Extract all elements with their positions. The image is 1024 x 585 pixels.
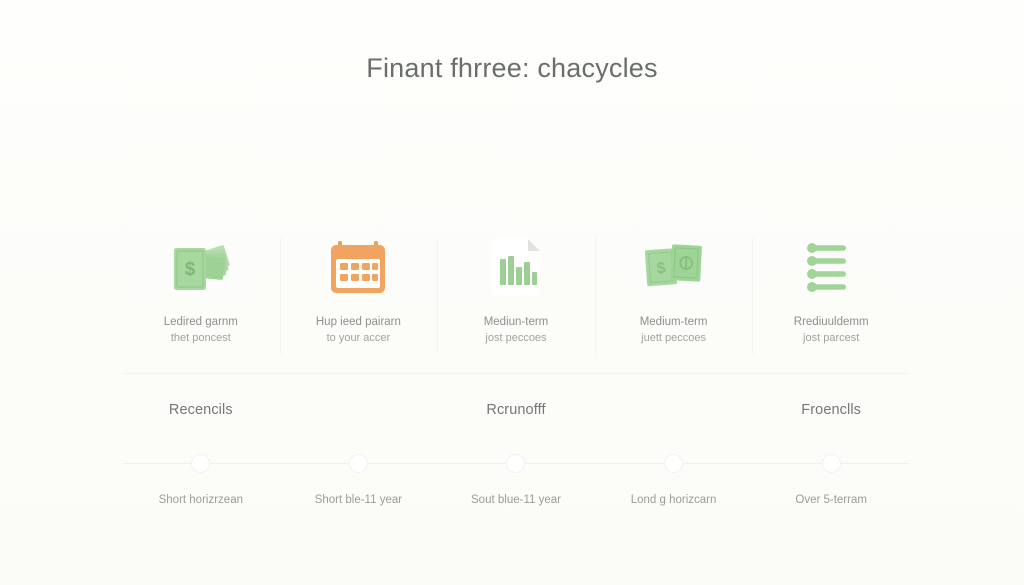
timeline-label: Sout blue-11 year [471,494,561,506]
feature-item-4[interactable]: $ Medium-term juett peccoes [595,232,753,372]
section-label-cell-2 [280,390,438,430]
checklist-icon [793,236,869,298]
feature-caption-line1: Rrediuuldemm [794,314,869,331]
document-bar-chart-icon [478,236,554,298]
feature-caption-3: Mediun-term jost peccoes [484,314,549,347]
feature-caption-line2: jost parcest [794,331,869,347]
feature-caption-line1: Ledired garnm [164,314,238,331]
money-stack-icon: $ [163,236,239,298]
feature-caption-5: Rrediuuldemm jost parcest [794,314,869,347]
section-label-cell-1[interactable]: Recencils [122,390,280,430]
feature-caption-line2: to your accer [316,331,401,347]
feature-icon-row: $ Ledired garnm thet poncest [122,232,910,372]
calendar-icon [320,236,396,298]
timeline-label: Over 5-terram [795,494,867,506]
section-divider [122,373,910,374]
feature-caption-line1: Medium-term [640,314,708,331]
timeline-nodes: Short horizrzean Short ble-11 year Sout … [122,454,910,524]
svg-text:$: $ [656,260,666,278]
feature-caption-line2: thet poncest [164,331,238,347]
feature-caption-1: Ledired garnm thet poncest [164,314,238,347]
timeline-item-5[interactable]: Over 5-terram [752,454,910,524]
timeline-node-dot[interactable] [192,455,209,472]
page-title: Finant fhrree: chacycles [366,52,657,84]
feature-caption-line1: Mediun-term [484,314,549,331]
timeline-node-dot[interactable] [665,455,682,472]
section-label: Froenclls [801,402,861,418]
timeline-item-3[interactable]: Sout blue-11 year [437,454,595,524]
section-label-cell-4 [595,390,753,430]
timeline-item-1[interactable]: Short horizrzean [122,454,280,524]
feature-caption-line1: Hup ieed pairarn [316,314,401,331]
section-label-row: Recencils Rcrunofff Froenclls [122,390,910,430]
timeline-label: Short ble-11 year [315,494,402,506]
svg-text:$: $ [185,259,196,280]
section-label-cell-5[interactable]: Froenclls [752,390,910,430]
feature-item-2[interactable]: Hup ieed pairarn to your accer [280,232,438,372]
feature-item-5[interactable]: Rrediuuldemm jost parcest [752,232,910,372]
page-title-wrap: Finant fhrree: chacycles [0,34,1024,103]
section-label: Rcrunofff [486,402,545,418]
section-label: Recencils [169,402,233,418]
banknotes-icon: $ [636,236,712,298]
timeline-node-dot[interactable] [823,455,840,472]
feature-item-1[interactable]: $ Ledired garnm thet poncest [122,232,280,372]
content-card: $ Ledired garnm thet poncest [122,232,910,524]
page-root: Finant fhrree: chacycles [0,0,1024,585]
feature-caption-4: Medium-term juett peccoes [640,314,708,347]
timeline-label: Lond g horizcarn [631,494,717,506]
timeline-label: Short horizrzean [159,494,243,506]
timeline-node-dot[interactable] [507,455,524,472]
feature-item-3[interactable]: Mediun-term jost peccoes [437,232,595,372]
feature-caption-line2: jost peccoes [484,331,549,347]
feature-caption-2: Hup ieed pairarn to your accer [316,314,401,347]
feature-caption-line2: juett peccoes [640,331,708,347]
timeline-node-dot[interactable] [350,455,367,472]
timeline-item-4[interactable]: Lond g horizcarn [595,454,753,524]
section-label-cell-3[interactable]: Rcrunofff [437,390,595,430]
timeline-item-2[interactable]: Short ble-11 year [280,454,438,524]
timeline: Short horizrzean Short ble-11 year Sout … [122,454,910,524]
